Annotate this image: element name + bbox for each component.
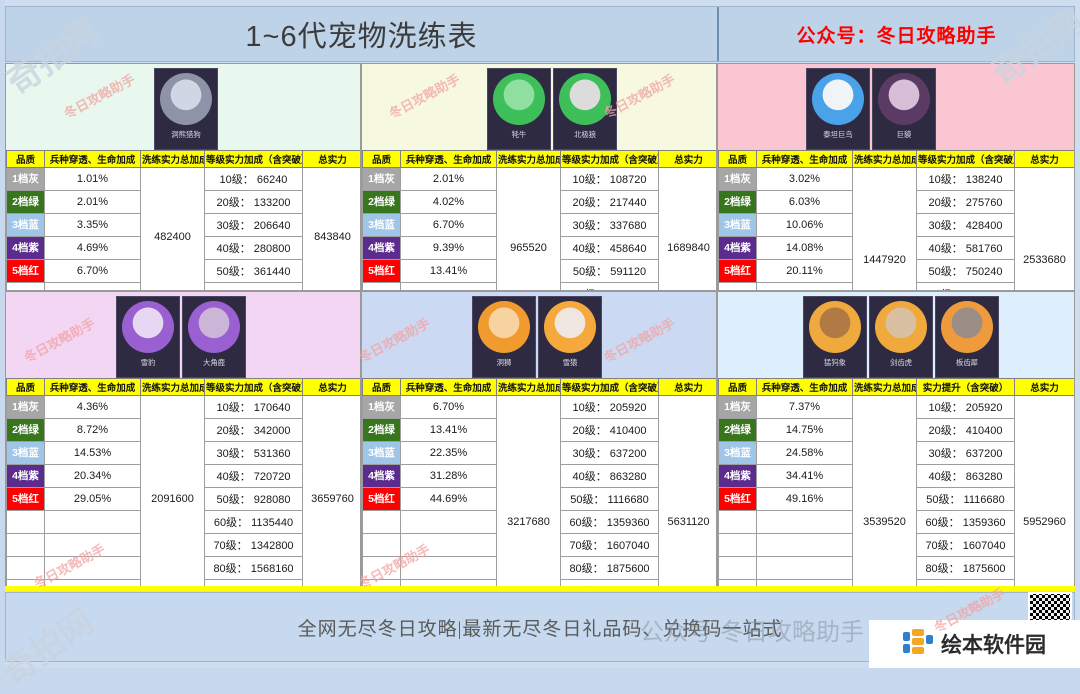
quality-badge: 3档蓝 <box>363 214 400 236</box>
total-power-cell: 5631120 <box>659 396 718 591</box>
quality-cell: 3档蓝 <box>719 214 757 237</box>
pet-portrait-icon <box>478 301 530 353</box>
quality-badge: 3档蓝 <box>719 214 756 236</box>
quality-cell <box>7 557 45 580</box>
level-bonus-cell: 30级： 428400 <box>917 214 1015 237</box>
official-account-note: 公众号：冬日攻略助手 <box>719 7 1074 61</box>
panel-grid: 洞熊猎狗品质兵种穿透、生命加成洗练实力总加成等级实力加成（含突破）总实力1档灰1… <box>5 63 1075 590</box>
level-bonus-cell: 30级： 637200 <box>917 442 1015 465</box>
pet-card[interactable]: 泰坦巨鸟 <box>806 68 870 150</box>
level-bonus-cell: 40级： 458640 <box>561 237 659 260</box>
level-bonus-header: 等级实力加成（含突破） <box>561 151 659 168</box>
quality-badge: 3档蓝 <box>7 214 44 236</box>
table-row: 1档灰7.37%353952010级： 2059205952960 <box>719 396 1075 419</box>
quality-cell: 2档绿 <box>719 419 757 442</box>
penetration-cell <box>757 534 853 557</box>
table-header-row: 品质兵种穿透、生命加成洗练实力总加成等级实力加成（含突破）总实力 <box>7 379 362 396</box>
quality-header: 品质 <box>363 379 401 396</box>
pet-name-label: 北极狼 <box>574 129 596 139</box>
panel-gen2: 牦牛北极狼品质兵种穿透、生命加成洗练实力总加成等级实力加成（含突破）总实力1档灰… <box>361 63 717 291</box>
pet-card[interactable]: 板齿犀 <box>935 296 999 378</box>
penetration-cell: 34.41% <box>757 465 853 488</box>
total-power-cell: 3659760 <box>303 396 362 591</box>
left-edge <box>0 0 5 668</box>
pet-card[interactable]: 牦牛 <box>487 68 551 150</box>
penetration-cell <box>757 557 853 580</box>
level-bonus-cell <box>205 283 303 292</box>
level-bonus-cell: 30级： 337680 <box>561 214 659 237</box>
penetration-header: 兵种穿透、生命加成 <box>401 379 497 396</box>
pet-name-label: 雪猿 <box>563 357 578 367</box>
quality-cell: 3档蓝 <box>719 442 757 465</box>
pet-card[interactable]: 雪豹 <box>116 296 180 378</box>
pet-portrait-icon <box>559 73 611 125</box>
level-bonus-cell: 50级： 750240 <box>917 260 1015 283</box>
stat-table: 品质兵种穿透、生命加成洗练实力总加成等级实力加成（含突破）总实力1档灰1.01%… <box>6 150 361 291</box>
quality-badge: 5档红 <box>363 488 400 510</box>
penetration-cell <box>401 534 497 557</box>
pet-card[interactable]: 洞狮 <box>472 296 536 378</box>
panel-gen6: 猛犸象剑齿虎板齿犀品质兵种穿透、生命加成洗练实力总加成实力提升（含突破）总实力1… <box>717 291 1075 590</box>
quality-badge: 4档紫 <box>719 237 756 259</box>
penetration-cell: 49.16% <box>757 488 853 511</box>
level-bonus-cell: 60级： 1359360 <box>917 511 1015 534</box>
penetration-cell: 14.75% <box>757 419 853 442</box>
penetration-cell: 2.01% <box>45 191 141 214</box>
level-bonus-cell: 40级： 863280 <box>561 465 659 488</box>
title-bar: 1~6代宠物洗练表 公众号：冬日攻略助手 <box>5 6 1075 62</box>
penetration-cell: 4.69% <box>45 237 141 260</box>
panel-gen4: 雪豹大角鹿品质兵种穿透、生命加成洗练实力总加成等级实力加成（含突破）总实力1档灰… <box>5 291 361 590</box>
penetration-cell: 20.11% <box>757 260 853 283</box>
brand-badge: 绘本软件园 <box>869 620 1080 668</box>
quality-cell: 2档绿 <box>719 191 757 214</box>
table-row: 1档灰2.01%96552010级： 1087201689840 <box>363 168 718 191</box>
level-bonus-cell: 20级： 275760 <box>917 191 1015 214</box>
penetration-cell: 20.34% <box>45 465 141 488</box>
quality-badge: 4档紫 <box>7 465 44 487</box>
penetration-cell: 2.01% <box>401 168 497 191</box>
table-header-row: 品质兵种穿透、生命加成洗练实力总加成等级实力加成（含突破）总实力 <box>363 151 718 168</box>
level-bonus-cell: 80级： 1568160 <box>205 557 303 580</box>
quality-badge: 4档紫 <box>719 465 756 487</box>
level-bonus-cell: 40级： 720720 <box>205 465 303 488</box>
stat-table: 品质兵种穿透、生命加成洗练实力总加成等级实力加成（含突破）总实力1档灰2.01%… <box>362 150 717 291</box>
quality-header: 品质 <box>719 151 757 168</box>
pet-card[interactable]: 剑齿虎 <box>869 296 933 378</box>
pet-portrait-icon <box>809 301 861 353</box>
quality-cell: 5档红 <box>719 260 757 283</box>
quality-cell: 3档蓝 <box>363 442 401 465</box>
penetration-cell <box>45 283 141 292</box>
quality-cell <box>363 557 401 580</box>
quality-cell <box>7 511 45 534</box>
refine-total-cell: 2091600 <box>141 396 205 591</box>
pet-card[interactable]: 雪猿 <box>538 296 602 378</box>
level-bonus-cell: 10级： 108720 <box>561 168 659 191</box>
quality-badge: 1档灰 <box>363 396 400 418</box>
level-bonus-cell: 60级： 1359360 <box>561 511 659 534</box>
penetration-cell <box>757 511 853 534</box>
penetration-header: 兵种穿透、生命加成 <box>401 151 497 168</box>
level-bonus-cell: 10级： 138240 <box>917 168 1015 191</box>
refine-total-cell: 3539520 <box>853 396 917 591</box>
total-power-header: 总实力 <box>303 151 362 168</box>
quality-badge: 2档绿 <box>363 191 400 213</box>
pet-portrait-icon <box>875 301 927 353</box>
quality-cell: 5档红 <box>7 260 45 283</box>
level-bonus-header: 等级实力加成（含突破） <box>917 151 1015 168</box>
penetration-cell: 31.28% <box>401 465 497 488</box>
pet-portrait-icon <box>160 73 212 125</box>
quality-cell <box>719 283 757 292</box>
quality-cell: 4档紫 <box>719 237 757 260</box>
panel-gen5: 洞狮雪猿品质兵种穿透、生命加成洗练实力总加成等级实力加成（含突破）总实力1档灰6… <box>361 291 717 590</box>
level-bonus-cell: 60级： 724320 <box>561 283 659 292</box>
quality-cell: 3档蓝 <box>7 214 45 237</box>
level-bonus-cell: 20级： 410400 <box>917 419 1015 442</box>
quality-badge: 1档灰 <box>719 168 756 190</box>
quality-badge: 1档灰 <box>363 168 400 190</box>
quality-header: 品质 <box>719 379 757 396</box>
panel-row-top: 洞熊猎狗品质兵种穿透、生命加成洗练实力总加成等级实力加成（含突破）总实力1档灰1… <box>5 63 1075 291</box>
quality-cell: 1档灰 <box>7 168 45 191</box>
refine-total-header: 洗练实力总加成 <box>853 379 917 396</box>
level-bonus-cell: 20级： 133200 <box>205 191 303 214</box>
pet-portrait-icon <box>878 73 930 125</box>
penetration-cell <box>401 557 497 580</box>
brand-name: 绘本软件园 <box>941 629 1046 659</box>
refine-total-cell: 3217680 <box>497 396 561 591</box>
panel-gen1: 洞熊猎狗品质兵种穿透、生命加成洗练实力总加成等级实力加成（含突破）总实力1档灰1… <box>5 63 361 291</box>
penetration-header: 兵种穿透、生命加成 <box>45 151 141 168</box>
penetration-cell: 7.37% <box>757 396 853 419</box>
quality-cell <box>719 534 757 557</box>
stat-table: 品质兵种穿透、生命加成洗练实力总加成等级实力加成（含突破）总实力1档灰3.02%… <box>718 150 1075 291</box>
pet-card[interactable]: 巨貘 <box>872 68 936 150</box>
quality-badge: 3档蓝 <box>719 442 756 464</box>
penetration-header: 兵种穿透、生命加成 <box>757 379 853 396</box>
level-bonus-cell: 30级： 206640 <box>205 214 303 237</box>
level-bonus-header: 实力提升（含突破） <box>917 379 1015 396</box>
refine-total-header: 洗练实力总加成 <box>497 151 561 168</box>
level-bonus-cell: 40级： 581760 <box>917 237 1015 260</box>
level-bonus-cell: 10级： 205920 <box>917 396 1015 419</box>
pet-portrait-icon <box>188 301 240 353</box>
quality-cell <box>719 557 757 580</box>
level-bonus-header: 等级实力加成（含突破） <box>205 379 303 396</box>
total-power-header: 总实力 <box>303 379 362 396</box>
total-power-cell: 2533680 <box>1015 168 1075 292</box>
quality-badge: 3档蓝 <box>7 442 44 464</box>
quality-cell: 1档灰 <box>719 168 757 191</box>
panel-gen3: 泰坦巨鸟巨貘品质兵种穿透、生命加成洗练实力总加成等级实力加成（含突破）总实力1档… <box>717 63 1075 291</box>
quality-badge: 5档红 <box>719 488 756 510</box>
pet-name-label: 大角鹿 <box>203 357 225 367</box>
refine-total-header: 洗练实力总加成 <box>141 151 205 168</box>
refine-total-header: 洗练实力总加成 <box>141 379 205 396</box>
quality-badge: 5档红 <box>7 260 44 282</box>
penetration-cell: 13.41% <box>401 419 497 442</box>
penetration-cell: 13.41% <box>401 260 497 283</box>
table-row: 1档灰1.01%48240010级： 66240843840 <box>7 168 362 191</box>
refine-total-cell: 965520 <box>497 168 561 292</box>
total-power-header: 总实力 <box>1015 151 1075 168</box>
quality-badge: 4档紫 <box>363 237 400 259</box>
quality-cell <box>7 283 45 292</box>
level-bonus-cell: 70级： 1342800 <box>205 534 303 557</box>
penetration-cell <box>45 534 141 557</box>
pet-name-label: 洞狮 <box>497 357 512 367</box>
penetration-cell: 3.35% <box>45 214 141 237</box>
pet-avatar-strip: 洞狮雪猿 <box>362 296 716 380</box>
quality-badge: 4档紫 <box>363 465 400 487</box>
table-header-row: 品质兵种穿透、生命加成洗练实力总加成实力提升（含突破）总实力 <box>719 379 1075 396</box>
divider-yellow <box>5 586 1075 591</box>
pet-name-label: 泰坦巨鸟 <box>823 129 852 139</box>
pet-avatar-strip: 洞熊猎狗 <box>6 68 360 152</box>
pet-name-label: 板齿犀 <box>956 357 978 367</box>
level-bonus-cell: 70级： 1607040 <box>561 534 659 557</box>
total-power-cell: 843840 <box>303 168 362 292</box>
quality-header: 品质 <box>7 379 45 396</box>
refine-total-header: 洗练实力总加成 <box>497 379 561 396</box>
penetration-cell <box>757 283 853 292</box>
quality-cell: 1档灰 <box>7 396 45 419</box>
quality-badge: 1档灰 <box>7 396 44 418</box>
penetration-cell: 6.70% <box>45 260 141 283</box>
refine-total-header: 洗练实力总加成 <box>853 151 917 168</box>
pet-card[interactable]: 大角鹿 <box>182 296 246 378</box>
page-title: 1~6代宠物洗练表 <box>6 7 719 61</box>
pet-card[interactable]: 猛犸象 <box>803 296 867 378</box>
quality-cell: 5档红 <box>719 488 757 511</box>
pet-avatar-strip: 雪豹大角鹿 <box>6 296 360 380</box>
pet-card[interactable]: 洞熊猎狗 <box>154 68 218 150</box>
level-bonus-cell: 30级： 531360 <box>205 442 303 465</box>
level-bonus-cell: 10级： 205920 <box>561 396 659 419</box>
quality-cell: 2档绿 <box>7 191 45 214</box>
quality-badge: 2档绿 <box>363 419 400 441</box>
quality-cell: 2档绿 <box>363 419 401 442</box>
pet-portrait-icon <box>812 73 864 125</box>
penetration-header: 兵种穿透、生命加成 <box>757 151 853 168</box>
penetration-cell: 3.02% <box>757 168 853 191</box>
pet-avatar-strip: 猛犸象剑齿虎板齿犀 <box>718 296 1074 380</box>
penetration-cell: 9.39% <box>401 237 497 260</box>
quality-badge: 2档绿 <box>7 191 44 213</box>
pet-name-label: 巨貘 <box>897 129 912 139</box>
quality-cell: 5档红 <box>363 488 401 511</box>
level-bonus-cell: 20级： 217440 <box>561 191 659 214</box>
table-row: 1档灰6.70%321768010级： 2059205631120 <box>363 396 718 419</box>
quality-cell <box>7 534 45 557</box>
quality-header: 品质 <box>7 151 45 168</box>
quality-badge: 2档绿 <box>719 191 756 213</box>
level-bonus-cell: 50级： 361440 <box>205 260 303 283</box>
total-power-cell: 5952960 <box>1015 396 1075 591</box>
table-header-row: 品质兵种穿透、生命加成洗练实力总加成等级实力加成（含突破）总实力 <box>719 151 1075 168</box>
pet-name-label: 剑齿虎 <box>890 357 912 367</box>
spreadsheet-canvas: 1~6代宠物洗练表 公众号：冬日攻略助手 洞熊猎狗品质兵种穿透、生命加成洗练实力… <box>0 0 1080 668</box>
pet-portrait-icon <box>493 73 545 125</box>
refine-total-cell: 1447920 <box>853 168 917 292</box>
level-bonus-cell: 80级： 1875600 <box>917 557 1015 580</box>
penetration-cell: 24.58% <box>757 442 853 465</box>
level-bonus-cell: 40级： 863280 <box>917 465 1015 488</box>
penetration-cell: 44.69% <box>401 488 497 511</box>
pet-card[interactable]: 北极狼 <box>553 68 617 150</box>
pet-portrait-icon <box>122 301 174 353</box>
penetration-cell <box>401 283 497 292</box>
penetration-cell: 1.01% <box>45 168 141 191</box>
quality-cell <box>363 283 401 292</box>
table-header-row: 品质兵种穿透、生命加成洗练实力总加成等级实力加成（含突破）总实力 <box>363 379 718 396</box>
quality-badge: 1档灰 <box>719 396 756 418</box>
level-bonus-cell: 10级： 66240 <box>205 168 303 191</box>
total-power-header: 总实力 <box>659 379 718 396</box>
quality-badge: 5档红 <box>719 260 756 282</box>
quality-cell: 4档紫 <box>363 237 401 260</box>
quality-badge: 5档红 <box>363 260 400 282</box>
penetration-cell <box>45 511 141 534</box>
quality-badge: 1档灰 <box>7 168 44 190</box>
panel-row-bottom: 雪豹大角鹿品质兵种穿透、生命加成洗练实力总加成等级实力加成（含突破）总实力1档灰… <box>5 291 1075 590</box>
quality-cell: 3档蓝 <box>7 442 45 465</box>
level-bonus-header: 等级实力加成（含突破） <box>205 151 303 168</box>
pet-name-label: 猛犸象 <box>824 357 846 367</box>
quality-cell <box>363 511 401 534</box>
pet-avatar-strip: 牦牛北极狼 <box>362 68 716 152</box>
quality-cell: 2档绿 <box>363 191 401 214</box>
level-bonus-cell: 30级： 637200 <box>561 442 659 465</box>
penetration-cell <box>45 557 141 580</box>
penetration-cell: 14.53% <box>45 442 141 465</box>
penetration-cell <box>401 511 497 534</box>
pet-portrait-icon <box>544 301 596 353</box>
level-bonus-cell: 50级： 591120 <box>561 260 659 283</box>
quality-badge: 2档绿 <box>7 419 44 441</box>
level-bonus-cell: 50级： 1116680 <box>917 488 1015 511</box>
quality-badge: 5档红 <box>7 488 44 510</box>
pet-name-label: 洞熊猎狗 <box>171 129 200 139</box>
total-power-header: 总实力 <box>1015 379 1075 396</box>
quality-badge: 3档蓝 <box>363 442 400 464</box>
level-bonus-cell: 50级： 928080 <box>205 488 303 511</box>
quality-cell: 1档灰 <box>363 396 401 419</box>
penetration-cell: 8.72% <box>45 419 141 442</box>
level-bonus-cell: 20级： 410400 <box>561 419 659 442</box>
quality-badge: 2档绿 <box>719 419 756 441</box>
quality-cell: 2档绿 <box>7 419 45 442</box>
penetration-cell: 6.03% <box>757 191 853 214</box>
quality-cell: 1档灰 <box>363 168 401 191</box>
penetration-cell: 22.35% <box>401 442 497 465</box>
penetration-header: 兵种穿透、生命加成 <box>45 379 141 396</box>
quality-cell: 3档蓝 <box>363 214 401 237</box>
penetration-cell: 4.36% <box>45 396 141 419</box>
level-bonus-cell: 80级： 1875600 <box>561 557 659 580</box>
level-bonus-cell: 40级： 280800 <box>205 237 303 260</box>
footer-text: 全网无尽冬日攻略|最新无尽冬日礼品码、兑换码一站式 <box>298 614 783 641</box>
level-bonus-cell: 20级： 342000 <box>205 419 303 442</box>
pet-name-label: 牦牛 <box>512 129 527 139</box>
penetration-cell: 14.08% <box>757 237 853 260</box>
penetration-cell: 29.05% <box>45 488 141 511</box>
quality-cell <box>719 511 757 534</box>
quality-cell: 4档紫 <box>363 465 401 488</box>
level-bonus-cell: 70级： 1607040 <box>917 534 1015 557</box>
quality-badge: 4档紫 <box>7 237 44 259</box>
quality-cell: 1档灰 <box>719 396 757 419</box>
pet-portrait-icon <box>941 301 993 353</box>
quality-header: 品质 <box>363 151 401 168</box>
quality-cell: 4档紫 <box>719 465 757 488</box>
stat-table: 品质兵种穿透、生命加成洗练实力总加成实力提升（含突破）总实力1档灰7.37%35… <box>718 378 1075 590</box>
penetration-cell: 6.70% <box>401 396 497 419</box>
stat-table: 品质兵种穿透、生命加成洗练实力总加成等级实力加成（含突破）总实力1档灰6.70%… <box>362 378 717 590</box>
brand-logo-icon <box>903 629 933 659</box>
level-bonus-cell: 60级： 1135440 <box>205 511 303 534</box>
quality-cell: 5档红 <box>363 260 401 283</box>
quality-cell: 4档紫 <box>7 237 45 260</box>
refine-total-cell: 482400 <box>141 168 205 292</box>
quality-cell: 4档紫 <box>7 465 45 488</box>
quality-cell <box>363 534 401 557</box>
level-bonus-cell: 60级： 917280 <box>917 283 1015 292</box>
penetration-cell: 10.06% <box>757 214 853 237</box>
table-row: 1档灰4.36%209160010级： 1706403659760 <box>7 396 362 419</box>
level-bonus-cell: 10级： 170640 <box>205 396 303 419</box>
penetration-cell: 6.70% <box>401 214 497 237</box>
level-bonus-header: 等级实力加成（含突破） <box>561 379 659 396</box>
pet-name-label: 雪豹 <box>141 357 156 367</box>
pet-avatar-strip: 泰坦巨鸟巨貘 <box>718 68 1074 152</box>
table-row: 1档灰3.02%144792010级： 1382402533680 <box>719 168 1075 191</box>
total-power-header: 总实力 <box>659 151 718 168</box>
quality-cell: 5档红 <box>7 488 45 511</box>
table-header-row: 品质兵种穿透、生命加成洗练实力总加成等级实力加成（含突破）总实力 <box>7 151 362 168</box>
total-power-cell: 1689840 <box>659 168 718 292</box>
stat-table: 品质兵种穿透、生命加成洗练实力总加成等级实力加成（含突破）总实力1档灰4.36%… <box>6 378 361 590</box>
level-bonus-cell: 50级： 1116680 <box>561 488 659 511</box>
penetration-cell: 4.02% <box>401 191 497 214</box>
